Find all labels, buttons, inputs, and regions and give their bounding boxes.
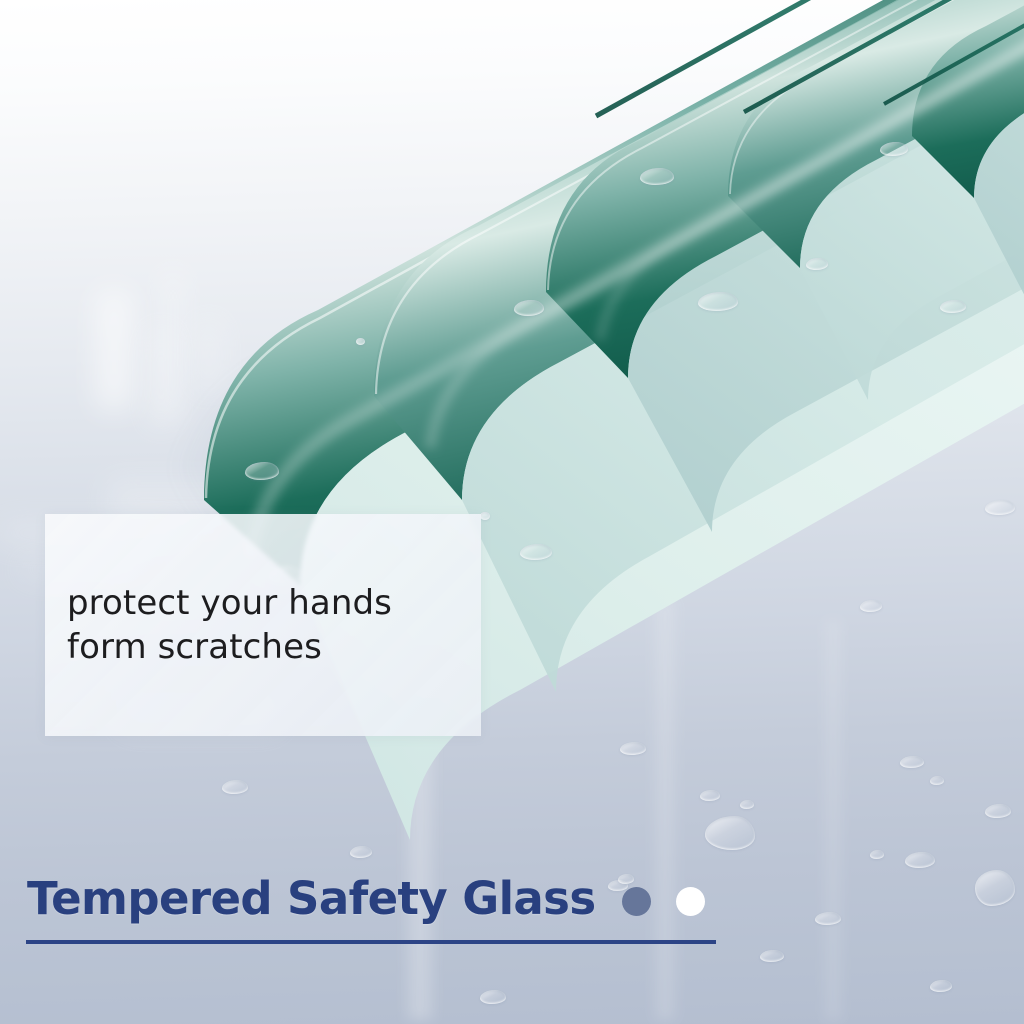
banner-canvas: protect your hands form scratches Temper… bbox=[0, 0, 1024, 1024]
footer: Tempered Safety Glass bbox=[0, 868, 1024, 978]
caption-card: protect your hands form scratches bbox=[45, 514, 481, 736]
title-underline-rule bbox=[26, 940, 716, 944]
slide-dot-1[interactable] bbox=[622, 887, 651, 916]
footer-title-row: Tempered Safety Glass bbox=[27, 868, 705, 930]
slide-indicator-dots[interactable] bbox=[622, 887, 705, 916]
caption-text: protect your hands form scratches bbox=[45, 581, 392, 669]
page-title: Tempered Safety Glass bbox=[27, 868, 596, 930]
slide-dot-2[interactable] bbox=[676, 887, 705, 916]
